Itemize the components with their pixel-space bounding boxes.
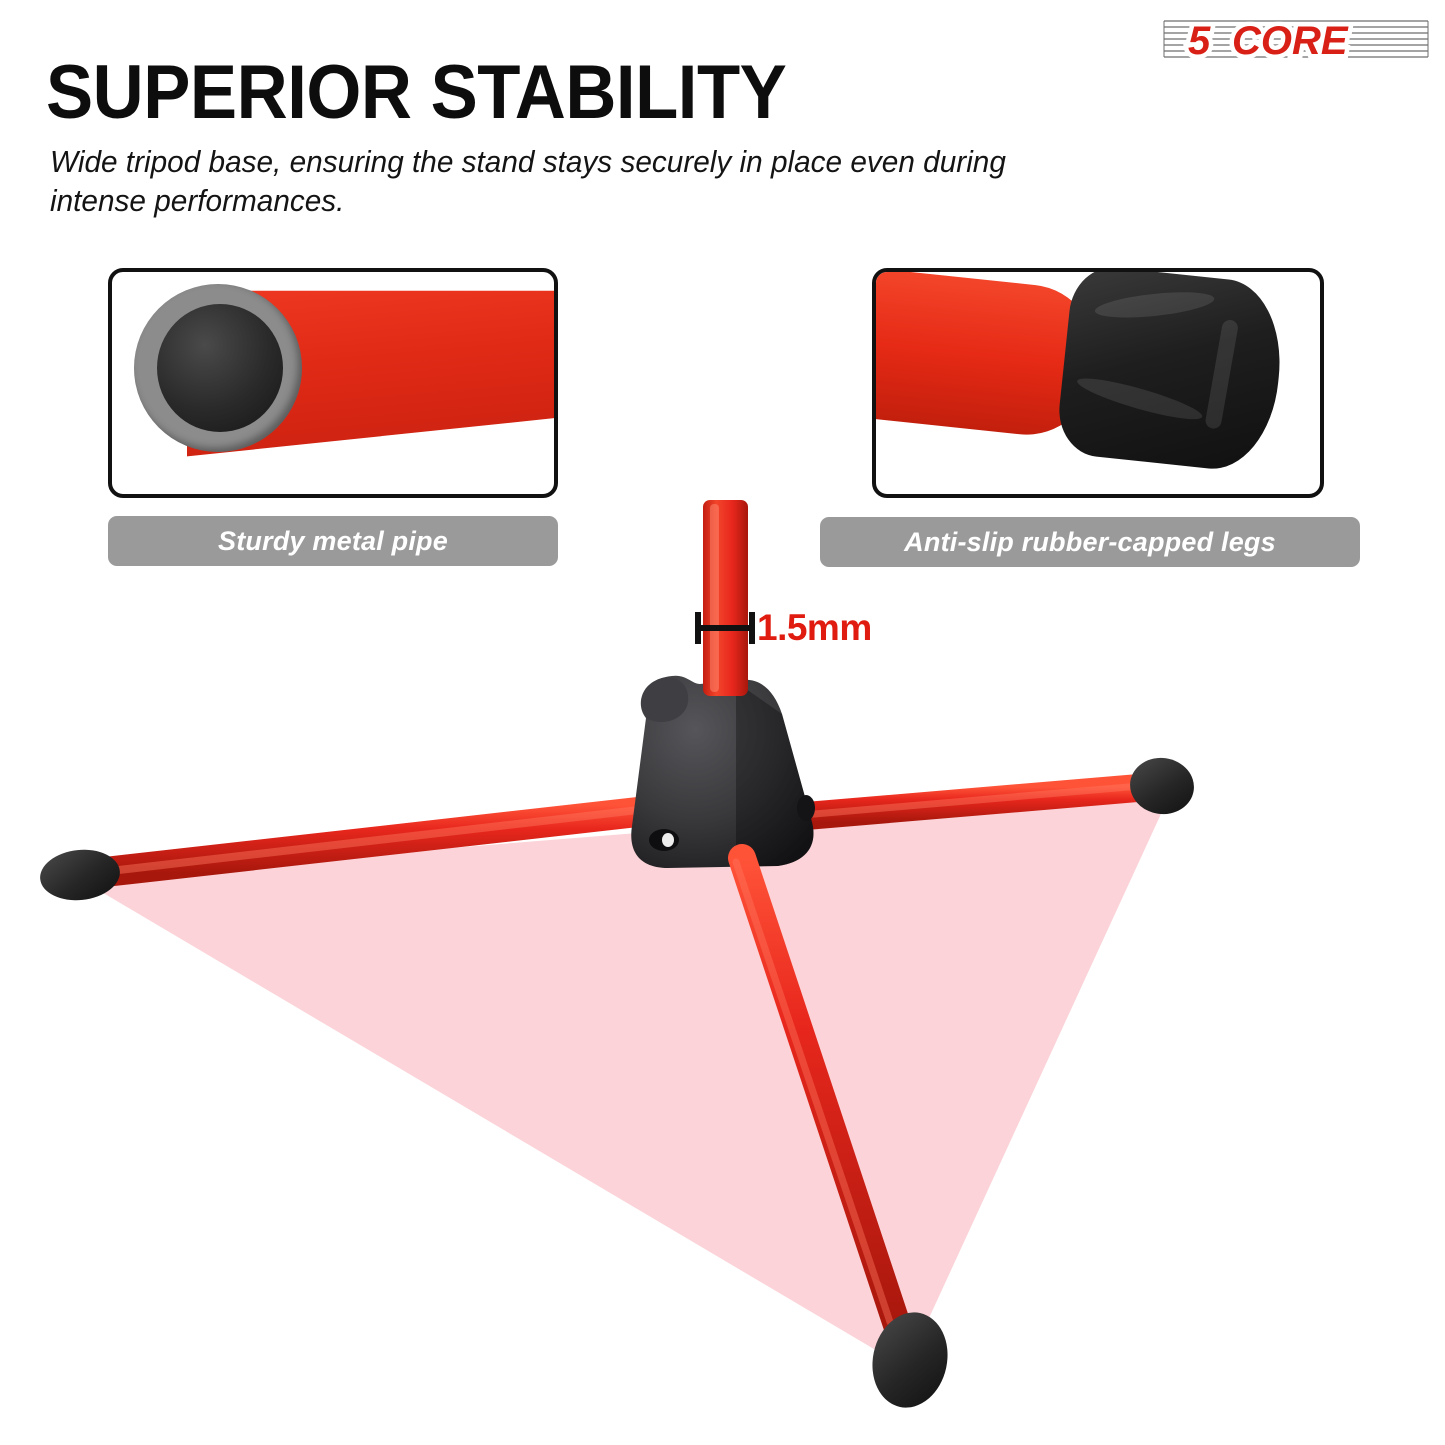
- rubber-foot-cap-shape: [1055, 268, 1289, 475]
- dimension-label-1-5mm: 1.5mm: [757, 607, 872, 649]
- callout-card-sturdy-metal-pipe: [108, 268, 558, 498]
- metal-pipe-cross-section-image: [112, 272, 554, 494]
- center-post-group: [703, 500, 748, 696]
- cap-ridge-highlight: [1094, 288, 1216, 322]
- cap-ridge-highlight: [1204, 319, 1239, 430]
- logo-text-core-fill: CORE: [1232, 19, 1349, 63]
- center-post-highlight: [710, 504, 719, 692]
- rubber-cap-photo: [876, 272, 1320, 494]
- page-title: SUPERIOR STABILITY: [46, 52, 1023, 134]
- center-post-tube: [703, 500, 748, 696]
- hub-bolt-highlight: [662, 833, 674, 847]
- infographic-page: 5 CORE 5 CORE SUPERIOR STABILITY Wide tr…: [0, 0, 1445, 1445]
- callout-card-rubber-capped-legs: [872, 268, 1324, 498]
- pipe-hollow-bore: [157, 304, 283, 432]
- footprint-triangle-overlay: [78, 790, 1172, 1368]
- logo-text-5-fill: 5: [1188, 19, 1211, 63]
- hub-side-hole: [797, 795, 815, 821]
- center-hub-group: [631, 676, 815, 868]
- page-subtitle: Wide tripod base, ensuring the stand sta…: [50, 142, 1020, 220]
- hub-side-shadow: [736, 682, 814, 867]
- cap-ridge-highlight: [1074, 371, 1204, 426]
- brand-logo-5core: 5 CORE 5 CORE: [1160, 8, 1432, 66]
